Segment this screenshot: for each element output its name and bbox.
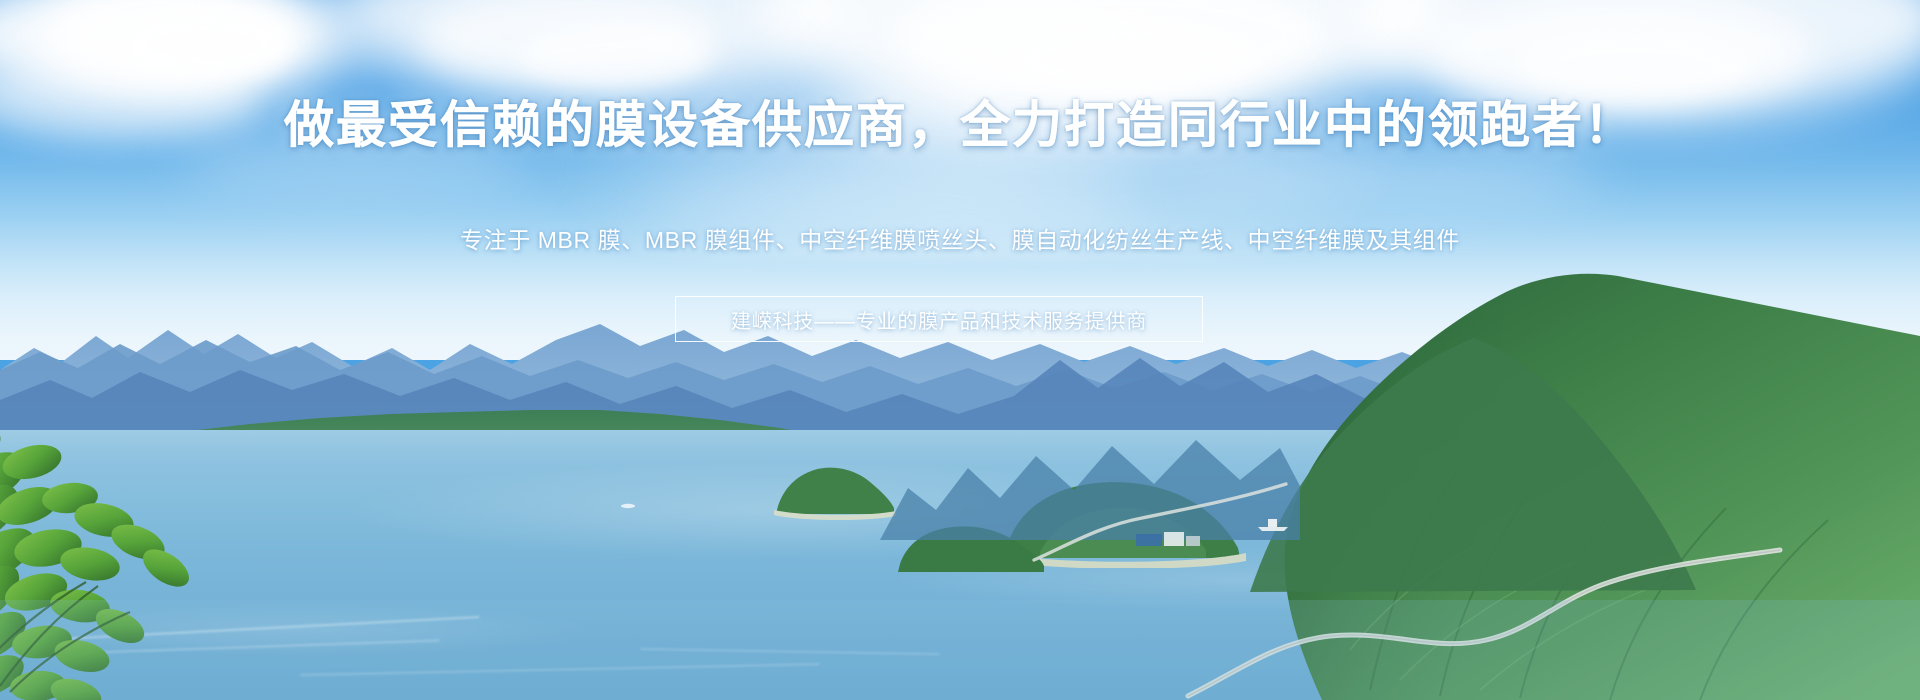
hero-banner: 做最受信赖的膜设备供应商，全力打造同行业中的领跑者！ 专注于 MBR 膜、MBR…: [0, 0, 1920, 700]
tagline-text: 建嵘科技——专业的膜产品和技术服务提供商: [731, 305, 1147, 334]
text-overlay: 做最受信赖的膜设备供应商，全力打造同行业中的领跑者！ 专注于 MBR 膜、MBR…: [0, 0, 1920, 700]
banner-subtitle: 专注于 MBR 膜、MBR 膜组件、中空纤维膜喷丝头、膜自动化纺丝生产线、中空纤…: [0, 221, 1920, 255]
tagline-box: 建嵘科技——专业的膜产品和技术服务提供商: [675, 296, 1203, 342]
banner-headline: 做最受信赖的膜设备供应商，全力打造同行业中的领跑者！: [0, 98, 1920, 153]
